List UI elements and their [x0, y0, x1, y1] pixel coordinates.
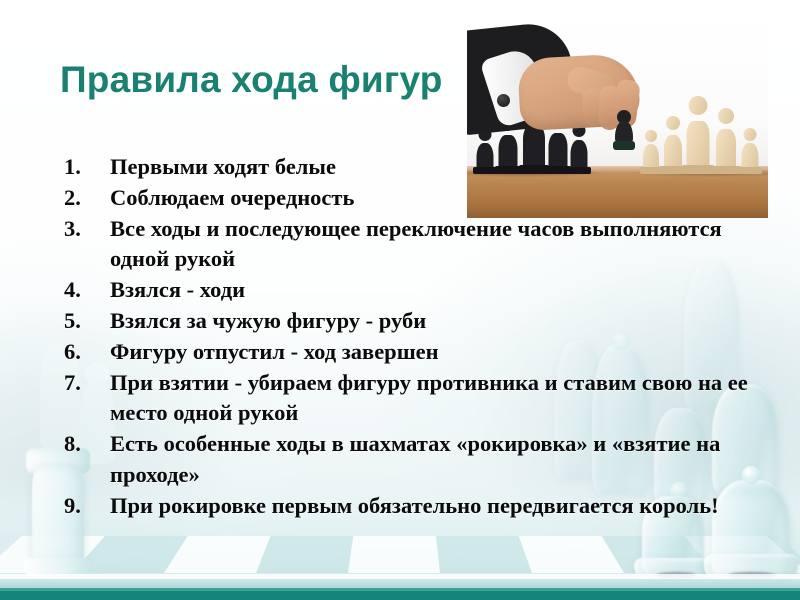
list-item-number: 4.	[58, 275, 110, 306]
page-title: Правила хода фигур	[60, 58, 443, 102]
list-item: 9. При рокировке первым обязательно пере…	[58, 491, 758, 522]
list-item-label: При рокировке первым обязательно передви…	[110, 491, 758, 522]
list-item: 4. Взялся - ходи	[58, 275, 758, 306]
list-item: 3. Все ходы и последующее переключение ч…	[58, 214, 758, 276]
list-item-label: Фигуру отпустил - ход завершен	[110, 337, 758, 368]
bottom-accent-strip	[0, 591, 800, 600]
list-item-label: Соблюдаем очередность	[110, 183, 758, 214]
list-item-number: 1.	[58, 152, 110, 183]
list-item-label: Все ходы и последующее переключение часо…	[110, 214, 758, 276]
photo-cufflink	[497, 94, 510, 107]
list-item: 7. При взятии - убираем фигуру противник…	[58, 368, 758, 430]
list-item-label: Взялся за чужую фигуру - руби	[110, 306, 758, 337]
list-item-number: 9.	[58, 491, 110, 522]
list-item: 5. Взялся за чужую фигуру - руби	[58, 306, 758, 337]
list-item: 1. Первыми ходят белые	[58, 152, 758, 183]
list-item-label: Первыми ходят белые	[110, 152, 758, 183]
list-item-number: 6.	[58, 337, 110, 368]
list-item-label: Есть особенные ходы в шахматах «рокировк…	[110, 429, 758, 491]
list-item-number: 2.	[58, 183, 110, 214]
list-item-label: Взялся - ходи	[110, 275, 758, 306]
list-item-number: 7.	[58, 368, 110, 399]
list-item: 2. Соблюдаем очередность	[58, 183, 758, 214]
list-item-number: 3.	[58, 214, 110, 245]
photo-held-black-piece	[613, 110, 635, 152]
slide: Правила хода фигур 1. Первыми ходят белы…	[0, 0, 800, 600]
list-item: 8. Есть особенные ходы в шахматах «рокир…	[58, 429, 758, 491]
list-item-number: 5.	[58, 306, 110, 337]
list-item: 6. Фигуру отпустил - ход завершен	[58, 337, 758, 368]
list-item-label: При взятии - убираем фигуру противника и…	[110, 368, 758, 430]
rules-list: 1. Первыми ходят белые 2. Соблюдаем очер…	[58, 152, 758, 522]
list-item-number: 8.	[58, 429, 110, 460]
